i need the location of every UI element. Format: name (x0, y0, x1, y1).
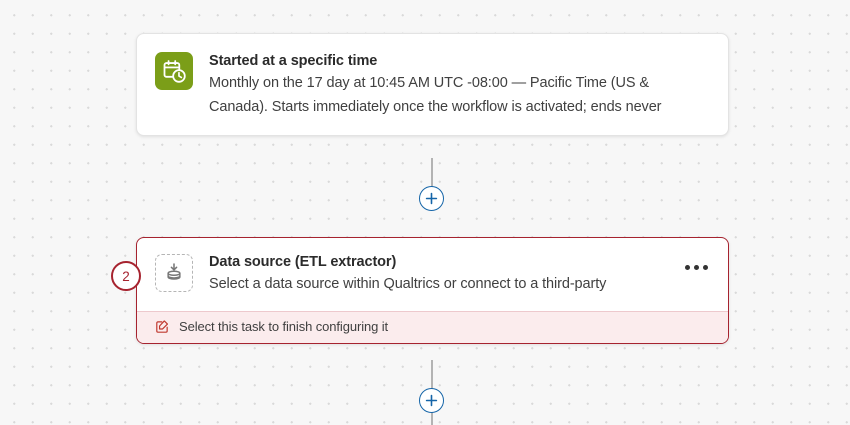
task-card[interactable]: Data source (ETL extractor) Select a dat… (136, 237, 729, 344)
workflow-canvas: Started at a specific time Monthly on th… (0, 0, 850, 425)
task-error-message: Select this task to finish configuring i… (179, 318, 388, 336)
plus-icon (425, 394, 438, 407)
calendar-clock-glyph (162, 59, 187, 84)
trigger-card-row: Started at a specific time Monthly on th… (155, 51, 710, 119)
trigger-card-description: Monthly on the 17 day at 10:45 AM UTC -0… (209, 72, 710, 119)
task-step-number-badge: 2 (111, 261, 141, 291)
trigger-card[interactable]: Started at a specific time Monthly on th… (136, 33, 729, 136)
task-error-banner: Select this task to finish configuring i… (137, 311, 728, 343)
task-card-title: Data source (ETL extractor) (209, 252, 710, 272)
add-step-button-top[interactable] (419, 186, 444, 211)
trigger-card-text: Started at a specific time Monthly on th… (209, 51, 710, 119)
edit-square-icon (155, 319, 170, 334)
calendar-clock-icon (155, 52, 193, 90)
database-import-icon (155, 254, 193, 292)
menu-dot (694, 265, 699, 270)
task-card-description: Select a data source within Qualtrics or… (209, 273, 710, 297)
task-card-text: Data source (ETL extractor) Select a dat… (209, 252, 710, 297)
plus-icon (425, 192, 438, 205)
menu-dot (703, 265, 708, 270)
overflow-menu-icon[interactable] (683, 261, 710, 274)
task-card-body: Data source (ETL extractor) Select a dat… (137, 238, 728, 311)
menu-dot (685, 265, 690, 270)
database-import-glyph (163, 262, 185, 284)
add-step-button-bottom[interactable] (419, 388, 444, 413)
edit-square-glyph (155, 319, 170, 334)
trigger-card-title: Started at a specific time (209, 51, 710, 71)
